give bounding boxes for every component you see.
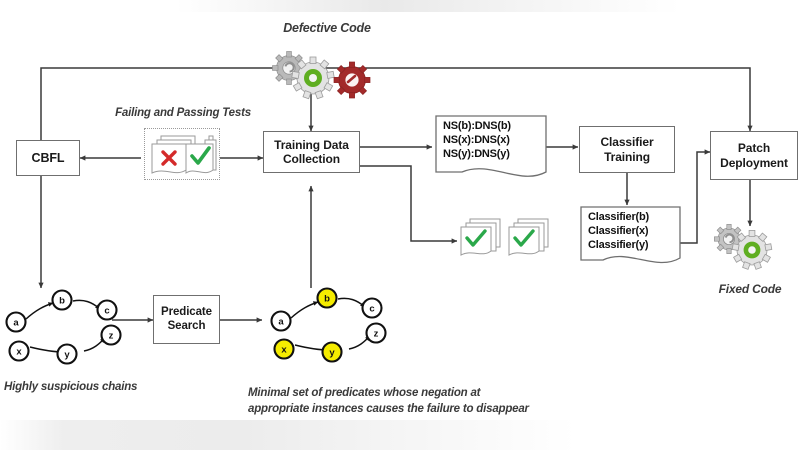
ns-dns-document: NS(b):DNS(b) NS(x):DNS(x) NS(y):DNS(y) xyxy=(443,119,547,161)
svg-text:y: y xyxy=(64,350,70,361)
ns-dns-line-2: NS(x):DNS(x) xyxy=(443,133,547,147)
defective-code-gears-icon xyxy=(273,52,371,99)
diagram-canvas: a b c x y z a xyxy=(0,0,800,450)
classifier-document: Classifier(b) Classifier(x) Classifier(y… xyxy=(588,210,684,252)
minimal-predicates-graph: a b c x y z xyxy=(272,289,386,362)
svg-text:c: c xyxy=(369,304,374,315)
classifier-line-3: Classifier(y) xyxy=(588,238,684,252)
suspicious-chains-graph: a b c x y z xyxy=(7,291,121,364)
predicate-search-box[interactable]: Predicate Search xyxy=(153,295,220,344)
svg-text:x: x xyxy=(281,345,287,356)
ns-dns-line-1: NS(b):DNS(b) xyxy=(443,119,547,133)
cbfl-box[interactable]: CBFL xyxy=(16,140,80,176)
svg-text:b: b xyxy=(59,296,65,307)
svg-text:b: b xyxy=(324,294,330,305)
minimal-set-label: Minimal set of predicates whose negation… xyxy=(248,386,608,417)
failing-passing-tests-frame xyxy=(144,128,220,180)
svg-text:z: z xyxy=(374,329,379,340)
svg-text:z: z xyxy=(109,331,114,342)
svg-text:a: a xyxy=(278,317,284,328)
classifier-training-box[interactable]: Classifier Training xyxy=(579,126,675,173)
failing-passing-tests-label: Failing and Passing Tests xyxy=(88,106,278,122)
highly-suspicious-chains-label: Highly suspicious chains xyxy=(4,380,224,396)
training-docs-stack-2-icon xyxy=(509,219,548,255)
svg-text:x: x xyxy=(16,347,22,358)
fixed-code-gears-icon xyxy=(714,224,771,269)
classifier-line-1: Classifier(b) xyxy=(588,210,684,224)
patch-deployment-box[interactable]: Patch Deployment xyxy=(710,131,798,180)
training-data-collection-box[interactable]: Training Data Collection xyxy=(263,131,360,173)
svg-text:y: y xyxy=(329,348,335,359)
fixed-code-label: Fixed Code xyxy=(700,281,800,297)
ns-dns-line-3: NS(y):DNS(y) xyxy=(443,147,547,161)
classifier-line-2: Classifier(x) xyxy=(588,224,684,238)
training-docs-stack-1-icon xyxy=(461,219,500,255)
svg-text:a: a xyxy=(13,318,19,329)
defective-code-label: Defective Code xyxy=(262,20,392,37)
svg-text:c: c xyxy=(104,306,109,317)
